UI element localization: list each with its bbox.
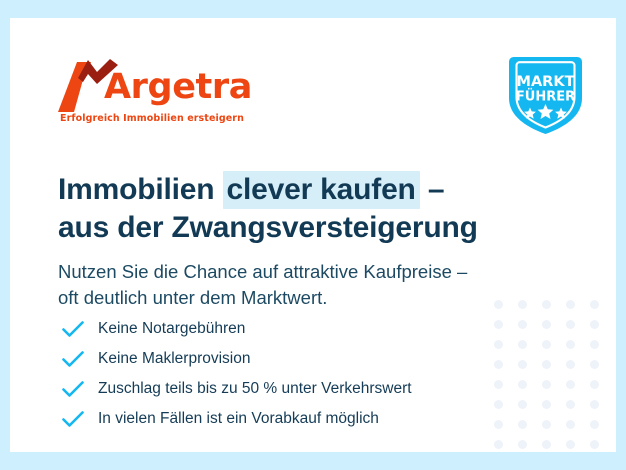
dot	[590, 380, 599, 389]
list-item: In vielen Fällen ist ein Vorabkauf mögli…	[62, 404, 532, 434]
dot	[590, 340, 599, 349]
dot	[542, 420, 551, 429]
dot	[566, 340, 575, 349]
headline-line1-suffix: –	[420, 173, 445, 206]
outer-frame: Argetra Erfolgreich Immobilien ersteiger…	[0, 0, 626, 470]
check-icon	[62, 320, 84, 338]
list-item: Keine Notargebühren	[62, 314, 532, 344]
benefit-label: Keine Maklerprovision	[98, 351, 251, 367]
dot	[518, 440, 527, 449]
dot	[566, 380, 575, 389]
dot	[542, 380, 551, 389]
logo-tagline: Erfolgreich Immobilien ersteigern	[60, 113, 244, 124]
benefits-list: Keine NotargebührenKeine Maklerprovision…	[62, 314, 532, 434]
headline-highlight: clever kaufen	[223, 171, 420, 209]
dot	[566, 440, 575, 449]
dot	[590, 420, 599, 429]
logo-wordmark: Argetra	[104, 70, 252, 105]
marktfuehrer-badge: MARKT FÜHRER	[499, 46, 592, 139]
content-card: Argetra Erfolgreich Immobilien ersteiger…	[10, 18, 616, 452]
check-icon	[62, 380, 84, 398]
check-icon	[62, 410, 84, 428]
dot	[542, 400, 551, 409]
dot	[566, 360, 575, 369]
dot	[590, 400, 599, 409]
list-item: Zuschlag teils bis zu 50 % unter Verkehr…	[62, 374, 532, 404]
badge-line1: MARKT	[517, 74, 575, 90]
dot	[590, 300, 599, 309]
benefit-label: Keine Notargebühren	[98, 321, 245, 337]
subtitle-line1: Nutzen Sie die Chance auf attraktive Kau…	[58, 261, 467, 282]
list-item: Keine Maklerprovision	[62, 344, 532, 374]
dot	[494, 440, 503, 449]
dot	[566, 320, 575, 329]
argetra-logo[interactable]: Argetra Erfolgreich Immobilien ersteiger…	[58, 46, 298, 132]
benefit-label: Zuschlag teils bis zu 50 % unter Verkehr…	[98, 381, 412, 397]
dot	[590, 320, 599, 329]
page-title: Immobilien clever kaufen – aus der Zwang…	[58, 171, 538, 247]
dot	[542, 320, 551, 329]
dot	[566, 400, 575, 409]
headline-line2: aus der Zwangsversteigerung	[58, 211, 478, 244]
dot	[566, 420, 575, 429]
dot	[542, 340, 551, 349]
dot	[566, 300, 575, 309]
benefit-label: In vielen Fällen ist ein Vorabkauf mögli…	[98, 411, 379, 427]
dot	[542, 360, 551, 369]
page-subtitle: Nutzen Sie die Chance auf attraktive Kau…	[58, 259, 548, 313]
dot	[542, 440, 551, 449]
dot	[590, 360, 599, 369]
badge-line2: FÜHRER	[516, 89, 575, 105]
dot	[590, 440, 599, 449]
check-icon	[62, 350, 84, 368]
headline-line1-prefix: Immobilien	[58, 173, 223, 206]
subtitle-line2: oft deutlich unter dem Marktwert.	[58, 287, 327, 308]
